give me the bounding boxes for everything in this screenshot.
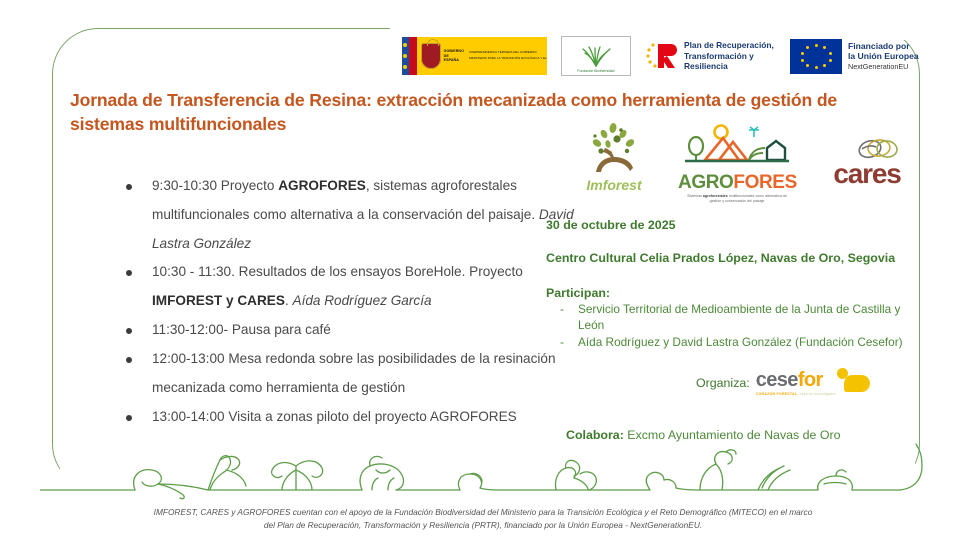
agenda-item-time: 13:00-14:00: [152, 409, 225, 424]
agrofores-tagline: Sistemas agroforestales multifuncionales…: [678, 194, 796, 203]
agrofores-mark-icon: [683, 124, 791, 168]
agenda-item-project: AGROFORES: [278, 178, 366, 193]
agenda-item-project: IMFOREST y CARES: [152, 293, 285, 308]
gobierno-label: GOBIERNO DE ESPAÑA: [444, 49, 464, 62]
fundacion-biodiversidad-label: Fundación Biodiversidad: [577, 69, 614, 73]
participant-item: Aída Rodríguez y David Lastra González (…: [546, 335, 916, 351]
footer-note: IMFOREST, CARES y AGROFORES cuentan con …: [40, 506, 926, 532]
agenda-item-time: 10:30 - 11:30.: [152, 264, 235, 279]
agenda-item: 12:00-13:00 Mesa redonda sobre las posib…: [118, 345, 588, 403]
participant-item: Servicio Territorial de Medioambiente de…: [546, 302, 916, 333]
cares-wordmark: cares: [812, 160, 922, 188]
footer-line-2: del Plan de Recuperación, Transformación…: [40, 519, 926, 532]
coat-of-arms-icon: [421, 43, 441, 69]
cares-logo: cares: [812, 136, 922, 188]
organiza-block: Organiza: cesefor CORAZÓN FORESTAL, espí…: [696, 370, 870, 396]
prtr-mark-icon: [645, 39, 679, 73]
agenda-item: 13:00-14:00 Visita a zonas piloto del pr…: [118, 403, 588, 432]
participants-label: Participan:: [546, 286, 916, 300]
agenda-item: 10:30 - 11:30. Resultados de los ensayos…: [118, 258, 588, 316]
cesefor-leaf-icon: [844, 375, 870, 392]
organiza-label: Organiza:: [696, 376, 750, 390]
ministry-label: VICEPRESIDENCIA TERCERA DEL GOBIERNO MIN…: [469, 51, 547, 61]
agrofores-wordmark: AGROFORES: [678, 173, 796, 192]
agenda-item-text: Pausa para café: [228, 322, 331, 337]
gobierno-de-espana-logo: GOBIERNO DE ESPAÑA VICEPRESIDENCIA TERCE…: [402, 37, 547, 75]
spain-flag-bar-icon: [402, 37, 417, 75]
event-venue: Centro Cultural Celia Prados López, Nava…: [546, 251, 916, 265]
agenda-item-time: 9:30-10:30: [152, 178, 217, 193]
agenda-item-text: Visita a zonas piloto del proyecto AGROF…: [225, 409, 517, 424]
cesefor-wordmark: cesefor: [756, 369, 823, 391]
imforest-wordmark: Imforest: [568, 177, 660, 193]
agenda-item: 11:30-12:00- Pausa para café: [118, 316, 588, 345]
eu-flag-icon: [790, 39, 842, 74]
hand-with-leaves-icon: [583, 122, 645, 174]
event-date: 30 de octubre de 2025: [546, 218, 916, 232]
poster-root: GOBIERNO DE ESPAÑA VICEPRESIDENCIA TERCE…: [0, 0, 960, 540]
agenda-item-text: Resultados de los ensayos BoreHole. Proy…: [235, 264, 523, 279]
imforest-logo: Imforest: [568, 122, 660, 193]
institutional-logo-bar: GOBIERNO DE ESPAÑA VICEPRESIDENCIA TERCE…: [402, 32, 919, 80]
participants-list: Servicio Territorial de Medioambiente de…: [546, 302, 916, 351]
prtr-label: Plan de Recuperación, Transformación y R…: [684, 40, 776, 72]
project-logos: Imforest: [560, 122, 920, 206]
agenda-item-text: Proyecto: [217, 178, 278, 193]
cesefor-logo: cesefor CORAZÓN FORESTAL, espíritu inves…: [756, 370, 836, 396]
grass-icon: [574, 43, 618, 67]
agenda-item-speaker: Aída Rodríguez García: [293, 293, 432, 308]
agenda-item-time: 11:30-12:00-: [152, 322, 228, 337]
footer-line-1: IMFOREST, CARES y AGROFORES cuentan con …: [40, 506, 926, 519]
eu-funding-label: Financiado por la Unión Europea NextGene…: [848, 41, 919, 72]
agenda-item-time: 12:00-13:00: [152, 351, 225, 366]
agrofores-logo: AGROFORES Sistemas agroforestales multif…: [678, 124, 796, 203]
european-union-logo: Financiado por la Unión Europea NextGene…: [790, 39, 919, 74]
agenda-list: 9:30-10:30 Proyecto AGROFORES, sistemas …: [78, 172, 588, 431]
cesefor-tagline: CORAZÓN FORESTAL, espíritu investigador: [756, 392, 836, 396]
agenda-item: 9:30-10:30 Proyecto AGROFORES, sistemas …: [118, 172, 588, 258]
prtr-logo: Plan de Recuperación, Transformación y R…: [645, 39, 776, 73]
nature-line-art-band: [40, 440, 926, 502]
agenda-item-text-tail: .: [285, 293, 293, 308]
fundacion-biodiversidad-logo: Fundación Biodiversidad: [561, 36, 631, 76]
event-info: 30 de octubre de 2025 Centro Cultural Ce…: [546, 218, 916, 351]
